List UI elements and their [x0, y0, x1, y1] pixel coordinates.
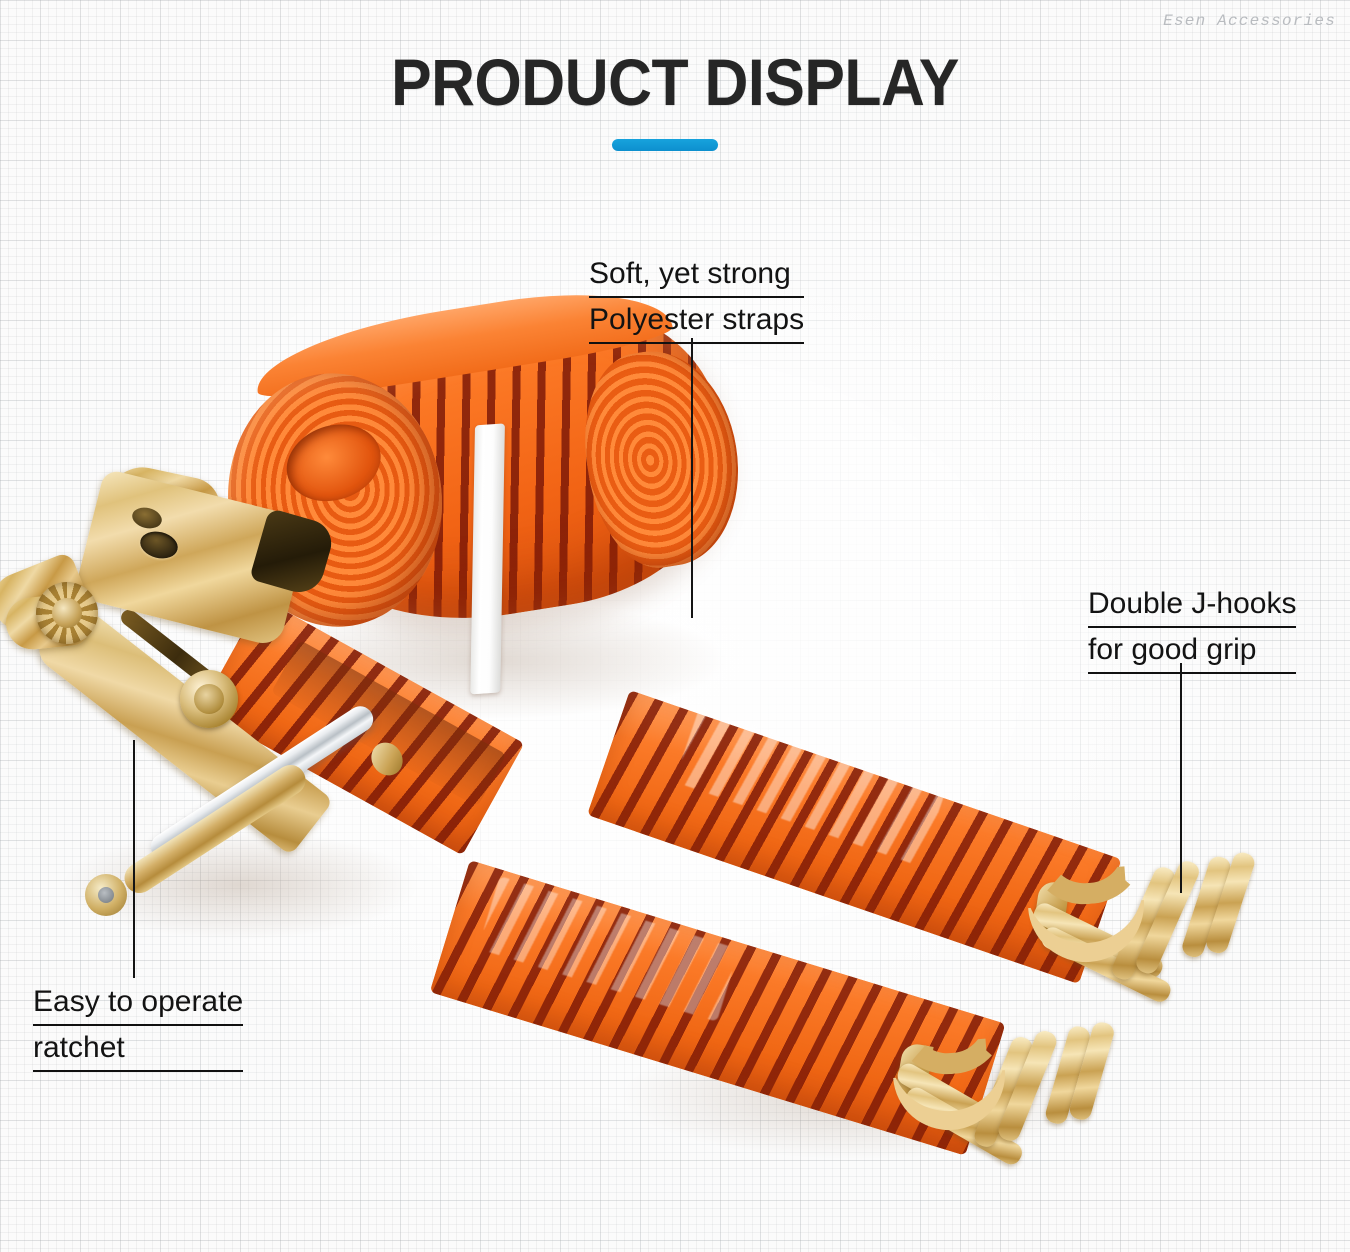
callout-ratchet-line-1: Easy to operate [33, 980, 243, 1026]
callout-straps-line-1: Soft, yet strong [589, 252, 804, 298]
callout-straps-line-2: Polyester straps [589, 298, 804, 344]
callout-ratchet-line-2: ratchet [33, 1026, 243, 1072]
ratchet-axle-bolt-core [194, 684, 224, 714]
ratchet-crossbar-end-cap [365, 737, 409, 782]
callout-hooks-line-1: Double J-hooks [1088, 582, 1296, 628]
double-j-hook-lower [895, 1020, 1195, 1235]
callout-easy-ratchet: Easy to operate ratchet [33, 980, 243, 1072]
leader-line-straps [691, 338, 693, 618]
page-title: PRODUCT DISPLAY [54, 44, 1296, 120]
callout-double-j-hooks: Double J-hooks for good grip [1088, 582, 1296, 674]
leader-line-hooks [1180, 663, 1182, 893]
title-accent-bar [612, 139, 718, 151]
watermark: Esen Accessories [1163, 12, 1336, 30]
white-cable-tie-band [470, 423, 505, 694]
ratchet-mechanism [0, 470, 470, 950]
ratchet-frame-pivot-pin [98, 887, 114, 903]
product-display-page: PRODUCT DISPLAY Esen Accessories Soft, y… [0, 0, 1350, 1252]
leader-line-ratchet [133, 740, 135, 978]
ratchet-gear-hub [52, 598, 82, 628]
callout-hooks-line-2: for good grip [1088, 628, 1296, 674]
callout-polyester-straps: Soft, yet strong Polyester straps [589, 252, 804, 344]
